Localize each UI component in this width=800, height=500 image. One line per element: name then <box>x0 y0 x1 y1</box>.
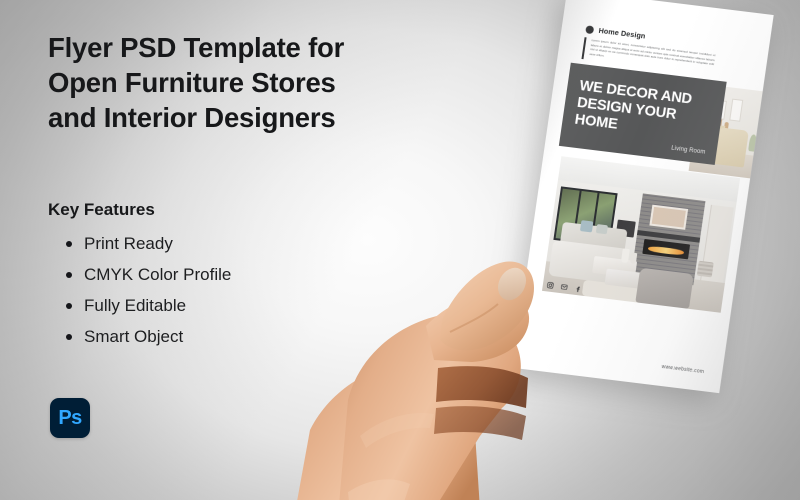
index-finger <box>426 293 529 362</box>
list-item: Print Ready <box>48 235 388 252</box>
bullet-icon <box>66 272 72 278</box>
cushion <box>580 220 594 232</box>
wall-decor <box>697 261 713 278</box>
bullet-icon <box>66 334 72 340</box>
headline-line-2: Open Furniture Stores <box>48 65 408 100</box>
bullet-icon <box>66 241 72 247</box>
skin-highlight <box>360 413 434 448</box>
flyer-mockup: Home Design Lorem ipsum dolor sit amet, … <box>513 0 774 393</box>
key-features-block: Key Features Print Ready CMYK Color Prof… <box>48 200 388 359</box>
accent-chair <box>635 267 694 309</box>
twitter-icon <box>560 283 568 291</box>
preview-stage: Flyer PSD Template for Open Furniture St… <box>0 0 800 500</box>
feature-label: Smart Object <box>84 327 183 346</box>
headline-line-1: Flyer PSD Template for <box>48 30 408 65</box>
list-item: Smart Object <box>48 328 388 345</box>
skin-highlight <box>348 479 410 500</box>
flyer-page: Home Design Lorem ipsum dolor sit amet, … <box>513 0 774 393</box>
page-title: Flyer PSD Template for Open Furniture St… <box>48 30 408 136</box>
key-features-title: Key Features <box>48 200 388 220</box>
promo-copy: Flyer PSD Template for Open Furniture St… <box>48 30 408 136</box>
flyer-headline-band: WE DECOR AND DESIGN YOUR HOME Living Roo… <box>559 63 727 165</box>
curled-fingers <box>434 406 526 440</box>
instagram-icon <box>546 281 554 289</box>
headline-line-3: and Interior Designers <box>48 100 408 135</box>
curled-fingers <box>436 366 528 408</box>
plant-object <box>748 134 758 151</box>
feature-label: CMYK Color Profile <box>84 265 231 284</box>
bullet-icon <box>66 303 72 309</box>
fireplace-artwork <box>650 204 689 230</box>
brand-dot-icon <box>585 25 594 34</box>
brand-name-label: Home Design <box>598 26 646 41</box>
thumb-crease <box>450 304 498 332</box>
forearm <box>290 356 482 500</box>
flyer-headline: WE DECOR AND DESIGN YOUR HOME <box>573 78 719 146</box>
photoshop-badge-label: Ps <box>58 408 81 428</box>
feature-label: Print Ready <box>84 234 173 253</box>
adobe-photoshop-icon: Ps <box>50 398 90 438</box>
feature-label: Fully Editable <box>84 296 186 315</box>
cushion <box>596 224 608 235</box>
list-item: Fully Editable <box>48 297 388 314</box>
list-item: CMYK Color Profile <box>48 266 388 283</box>
key-features-list: Print Ready CMYK Color Profile Fully Edi… <box>48 235 388 345</box>
flyer-website-url: www.website.com <box>515 346 704 375</box>
flyer-headline-caption: Living Room <box>671 146 706 156</box>
facebook-icon <box>574 285 582 293</box>
intro-accent-bar <box>581 37 586 59</box>
